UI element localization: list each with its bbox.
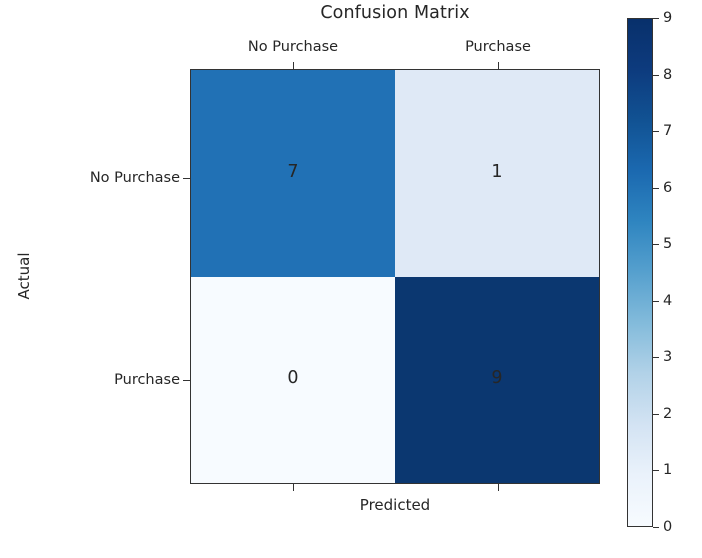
matrix-cell-0-0[interactable]: 7 xyxy=(191,70,395,277)
confusion-matrix-figure: Confusion Matrix No Purchase Purchase No… xyxy=(0,0,702,558)
matrix-cell-value: 7 xyxy=(287,164,298,182)
ytick-label-no-purchase: No Purchase xyxy=(90,170,180,186)
matrix-cell-1-0[interactable]: 0 xyxy=(191,277,395,484)
y-axis-label: Actual xyxy=(15,253,33,300)
colorbar-tick-mark-0 xyxy=(653,527,659,528)
xtick-mark-top-no-purchase xyxy=(293,62,294,69)
xtick-label-no-purchase: No Purchase xyxy=(248,39,338,55)
colorbar-gradient xyxy=(628,19,652,526)
ytick-mark-no-purchase xyxy=(183,178,190,179)
xtick-label-purchase: Purchase xyxy=(465,39,531,55)
colorbar-tick-label-5: 5 xyxy=(663,236,672,252)
matrix-cell-value: 0 xyxy=(287,370,298,388)
colorbar-tick-mark-6 xyxy=(653,188,659,189)
colorbar-tick-mark-3 xyxy=(653,357,659,358)
xtick-mark-bottom-purchase xyxy=(498,484,499,491)
chart-title: Confusion Matrix xyxy=(190,3,600,23)
matrix-cell-1-1[interactable]: 9 xyxy=(395,277,599,484)
heatmap-cell-grid: 7 1 0 9 xyxy=(191,70,599,483)
x-axis-label: Predicted xyxy=(190,496,600,514)
colorbar-tick-mark-9 xyxy=(653,18,659,19)
colorbar xyxy=(627,18,653,527)
xtick-mark-bottom-no-purchase xyxy=(293,484,294,491)
colorbar-tick-label-2: 2 xyxy=(663,406,672,422)
colorbar-tick-label-7: 7 xyxy=(663,123,672,139)
colorbar-tick-label-0: 0 xyxy=(663,519,672,535)
colorbar-tick-label-8: 8 xyxy=(663,67,672,83)
colorbar-tick-label-3: 3 xyxy=(663,349,672,365)
colorbar-tick-mark-7 xyxy=(653,131,659,132)
matrix-cell-0-1[interactable]: 1 xyxy=(395,70,599,277)
colorbar-tick-mark-1 xyxy=(653,470,659,471)
colorbar-tick-label-1: 1 xyxy=(663,462,672,478)
xtick-mark-top-purchase xyxy=(498,62,499,69)
colorbar-tick-mark-8 xyxy=(653,75,659,76)
colorbar-tick-mark-4 xyxy=(653,301,659,302)
colorbar-tick-mark-2 xyxy=(653,414,659,415)
colorbar-tick-mark-5 xyxy=(653,244,659,245)
heatmap-plot-area: 7 1 0 9 xyxy=(190,69,600,484)
colorbar-tick-label-9: 9 xyxy=(663,10,672,26)
ytick-label-purchase: Purchase xyxy=(114,372,180,388)
colorbar-tick-label-6: 6 xyxy=(663,180,672,196)
ytick-mark-purchase xyxy=(183,380,190,381)
matrix-cell-value: 9 xyxy=(491,370,502,388)
colorbar-tick-label-4: 4 xyxy=(663,293,672,309)
matrix-cell-value: 1 xyxy=(491,164,502,182)
